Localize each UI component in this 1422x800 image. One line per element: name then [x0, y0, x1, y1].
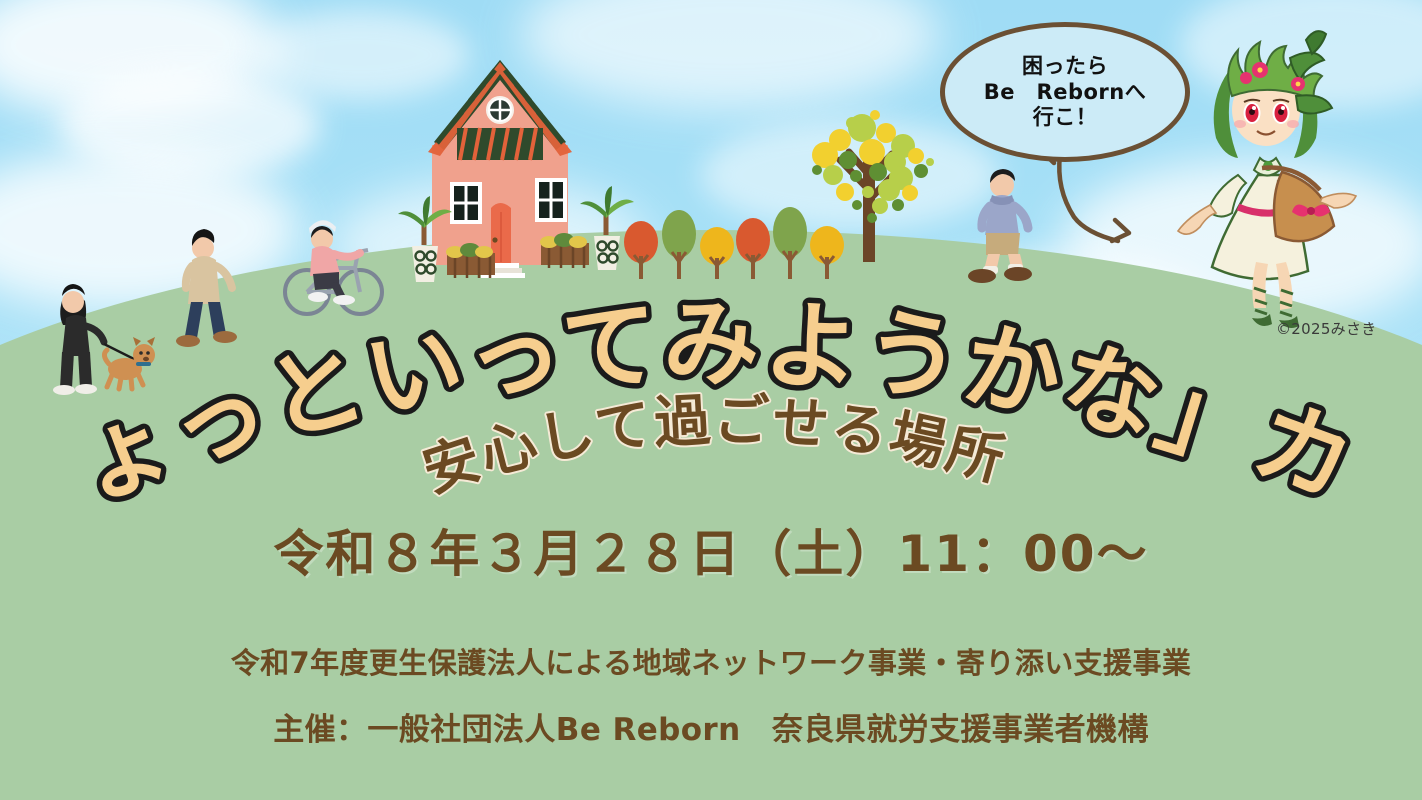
cloud	[250, 10, 470, 100]
speech-bubble: 困ったら Be Rebornへ 行こ！	[940, 22, 1190, 162]
organizer-line: 主催：一般社団法人Be Reborn 奈良県就労支援事業者機構	[0, 704, 1422, 749]
speech-bubble-line-2: Be Rebornへ	[984, 80, 1146, 105]
poster-canvas: 困ったら Be Rebornへ 行こ！ ©2025みさき 「ちょっといってみよう…	[0, 0, 1422, 800]
speech-bubble-line-1: 困ったら	[1022, 54, 1108, 79]
speech-bubble-line-3: 行こ！	[1033, 105, 1098, 130]
cloud	[520, 0, 940, 110]
event-dateline: 令和８年３月２８日（土）11：00〜	[0, 514, 1422, 586]
subtitle-text: 安心して過ごせる場所	[415, 388, 1012, 505]
svg-text:安心して過ごせる場所: 安心して過ごせる場所	[415, 388, 1012, 505]
speech-bubble-text: 困ったら Be Rebornへ 行こ！	[940, 22, 1190, 162]
program-line: 令和7年度更生保護法人による地域ネットワーク事業・寄り添い支援事業	[0, 640, 1422, 682]
cloud	[1180, 0, 1422, 110]
